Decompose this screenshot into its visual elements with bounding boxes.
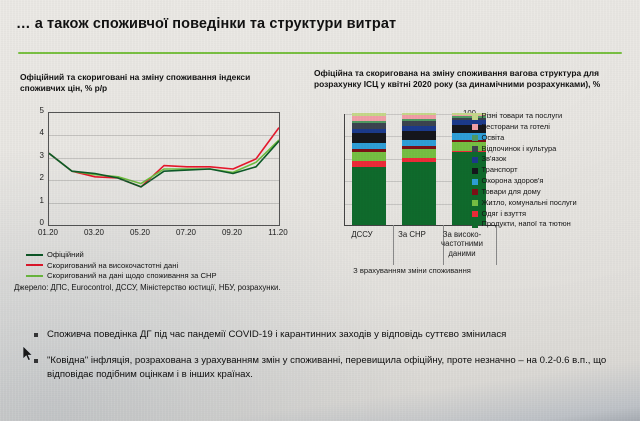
y-axis-tick: 3 — [22, 151, 44, 160]
legend-label: Продукти, напої та тютюн — [482, 220, 571, 228]
legend-color-swatch — [472, 211, 478, 217]
x-axis-tick: 01.20 — [30, 228, 66, 237]
x-axis-category-label: За СНР — [386, 230, 438, 239]
bar-segment — [352, 152, 386, 161]
legend-item: Одяг і взуття — [472, 210, 636, 218]
legend-item: Скоригований на високочастотні дані — [26, 261, 306, 270]
right-chart-legend: Різні товари та послугиРесторани та готе… — [472, 112, 636, 231]
gridline — [49, 135, 279, 136]
legend-item: Транспорт — [472, 166, 636, 174]
gridline — [49, 203, 279, 204]
legend-item: Охорона здоров'я — [472, 177, 636, 185]
line-series — [49, 140, 279, 184]
legend-item: Різні товари та послуги — [472, 112, 636, 120]
bar-segment — [402, 131, 436, 140]
legend-item: Освіта — [472, 134, 636, 142]
left-chart-lines — [49, 113, 279, 225]
legend-item: Офіційний — [26, 250, 306, 259]
x-axis-tick: 07.20 — [168, 228, 204, 237]
x-axis-tick: 09.20 — [214, 228, 250, 237]
legend-item: Зв'язок — [472, 155, 636, 163]
legend-color-swatch — [472, 135, 478, 141]
x-axis-tick: 11.20 — [260, 228, 296, 237]
left-chart-title: Офіційний та скориговані на зміну спожив… — [20, 72, 292, 94]
bracket-label: З врахуванням зміни споживання — [336, 266, 488, 275]
bullet-marker-icon — [34, 333, 38, 337]
right-chart-title: Офіційна та скоригована на зміну спожива… — [314, 68, 614, 90]
cpi-line-chart: 012345 01.2003.2005.2007.2009.2011.20 — [20, 108, 292, 248]
bar-segment — [352, 133, 386, 143]
mouse-cursor — [22, 345, 34, 363]
bullet-text: "Ковідна" інфляція, розрахована з урахув… — [47, 354, 624, 383]
page-title: … а також споживчої поведінки та структу… — [16, 16, 626, 32]
legend-color-swatch — [472, 114, 478, 120]
x-axis-tick: 03.20 — [76, 228, 112, 237]
legend-label: Різні товари та послуги — [482, 112, 563, 120]
y-axis-tick: 2 — [22, 173, 44, 182]
legend-color-swatch — [472, 157, 478, 163]
legend-label: Житло, комунальні послуги — [482, 199, 577, 207]
y-axis-tick: 0 — [22, 218, 44, 227]
legend-label: Відпочинок і культура — [482, 145, 557, 153]
bar-segment — [402, 149, 436, 158]
title-divider — [18, 52, 622, 54]
legend-line-swatch — [26, 254, 43, 256]
legend-line-swatch — [26, 264, 43, 266]
legend-item: Товари для дому — [472, 188, 636, 196]
legend-label: Зв'язок — [482, 155, 507, 163]
x-axis-category-label: За високо-​частотними даними — [436, 230, 488, 258]
legend-color-swatch — [472, 189, 478, 195]
legend-color-swatch — [472, 179, 478, 185]
stacked-bar — [402, 113, 436, 225]
y-axis-tick: 1 — [22, 196, 44, 205]
gridline — [49, 180, 279, 181]
legend-label: Скоригований на дані щодо споживання за … — [47, 271, 217, 280]
legend-item: Продукти, напої та тютюн — [472, 220, 636, 228]
legend-item: Відпочинок і культура — [472, 145, 636, 153]
legend-label: Ресторани та готелі — [482, 123, 550, 131]
legend-item: Житло, комунальні послуги — [472, 199, 636, 207]
legend-color-swatch — [472, 222, 478, 228]
bar-segment — [352, 167, 386, 225]
bullet-marker-icon — [34, 359, 38, 363]
legend-label: Охорона здоров'я — [482, 177, 544, 185]
left-chart-legend: ОфіційнийСкоригований на високочастотні … — [26, 250, 306, 282]
legend-label: Скоригований на високочастотні дані — [47, 261, 178, 270]
x-axis-category-label: ДССУ — [336, 230, 388, 239]
bullet-item: "Ковідна" інфляція, розрахована з урахув… — [34, 354, 624, 383]
legend-color-swatch — [472, 146, 478, 152]
legend-label: Офіційний — [47, 250, 84, 259]
bullet-text: Споживча поведінка ДГ під час пандемії C… — [47, 328, 506, 343]
y-axis-tick: 4 — [22, 128, 44, 137]
source-note: Джерело: ДПС, Eurocontrol, ДССУ, Міністе… — [14, 283, 304, 293]
y-axis-tick: 5 — [22, 106, 44, 115]
presentation-slide: … а також споживчої поведінки та структу… — [0, 0, 640, 421]
bullet-item: Споживча поведінка ДГ під час пандемії C… — [34, 328, 624, 343]
bullet-list: Споживча поведінка ДГ під час пандемії C… — [34, 328, 624, 394]
legend-color-swatch — [472, 168, 478, 174]
legend-color-swatch — [472, 200, 478, 206]
bar-segment — [402, 162, 436, 225]
legend-label: Товари для дому — [482, 188, 541, 196]
legend-line-swatch — [26, 275, 43, 277]
legend-label: Одяг і взуття — [482, 210, 527, 218]
legend-color-swatch — [472, 124, 478, 130]
legend-item: Скоригований на дані щодо споживання за … — [26, 271, 306, 280]
legend-label: Транспорт — [482, 166, 518, 174]
legend-item: Ресторани та готелі — [472, 123, 636, 131]
stacked-bar — [352, 113, 386, 225]
gridline — [49, 158, 279, 159]
legend-label: Освіта — [482, 134, 505, 142]
left-chart-plot-area — [48, 112, 280, 226]
x-axis-tick: 05.20 — [122, 228, 158, 237]
